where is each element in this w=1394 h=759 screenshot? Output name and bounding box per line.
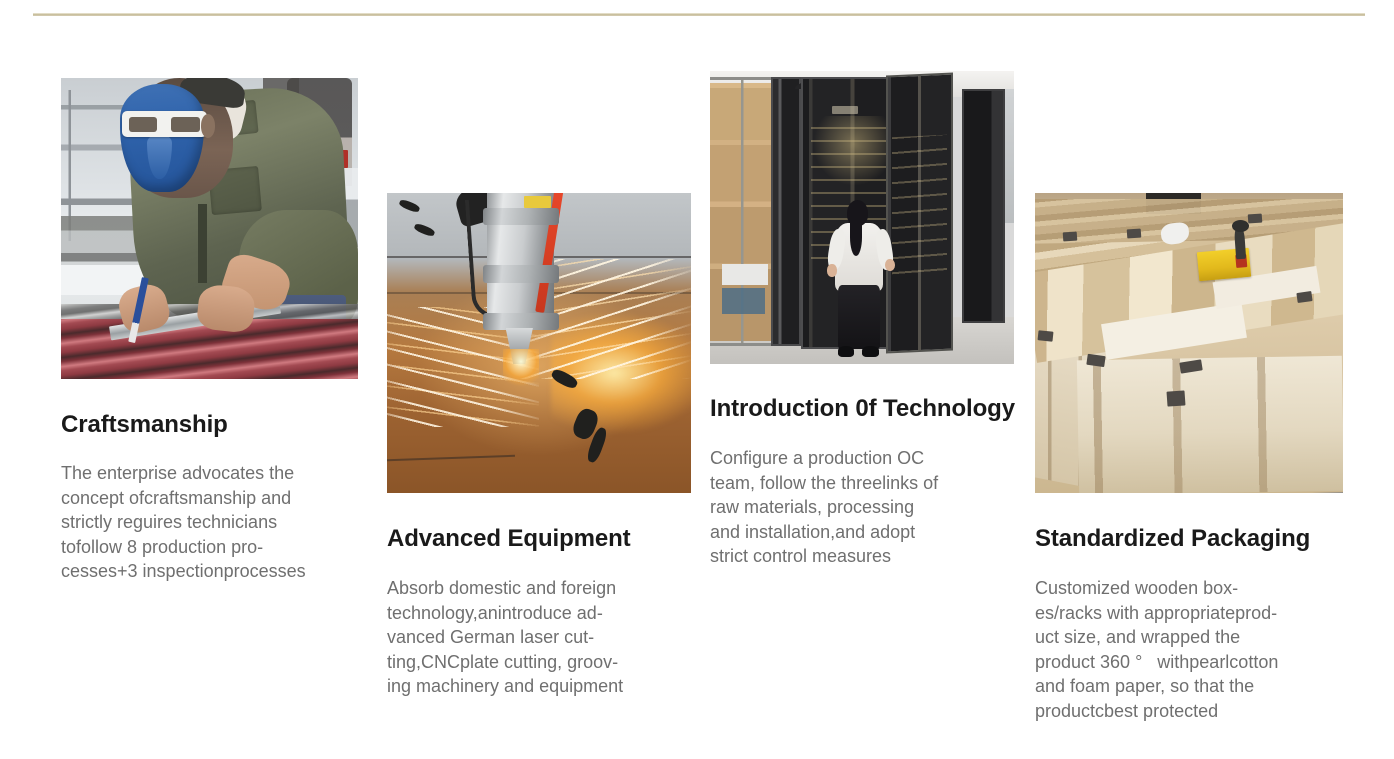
security-door-side: [886, 72, 953, 353]
warning-label: [524, 196, 551, 208]
visitor-trousers: [838, 285, 881, 349]
panel-label-blue: [722, 288, 765, 314]
visitor-right-shoe: [862, 346, 879, 357]
brochure-page: Craftsmanship The enterprise advocates t…: [0, 0, 1394, 759]
crate-front-battens: [1077, 356, 1343, 493]
head-collar-ring: [483, 208, 559, 225]
feature-body-packaging: Customized wooden box- es/racks with app…: [1035, 576, 1365, 723]
body-line: technology,anintroduce ad-: [387, 601, 692, 626]
body-line: The enterprise advocates the: [61, 461, 361, 486]
jacket-buttons: [198, 204, 207, 282]
body-line: cesses+3 inspectionprocesses: [61, 559, 361, 584]
equipment-photo: [387, 193, 691, 493]
body-line: Configure a production OC: [710, 446, 1022, 471]
head-collar-ring: [483, 313, 559, 330]
visitor-ponytail: [850, 218, 862, 256]
feature-card-craftsmanship: Craftsmanship The enterprise advocates t…: [61, 78, 361, 584]
body-line: and foam paper, so that the: [1035, 674, 1365, 699]
body-line: team, follow the threelinks of: [710, 471, 1022, 496]
body-line: uct size, and wrapped the: [1035, 625, 1365, 650]
body-line: tofollow 8 production pro-: [61, 535, 361, 560]
laser-tip-flare: [503, 349, 539, 391]
craftsmanship-photo: [61, 78, 358, 379]
body-line: Absorb domestic and foreign: [387, 576, 692, 601]
door-logo-plate: [832, 106, 859, 114]
body-line: strict control measures: [710, 544, 1022, 569]
metal-bracket: [1038, 330, 1054, 342]
security-door-far: [962, 89, 1005, 323]
security-door-open-leaf: [771, 77, 801, 347]
body-line: productcbest protected: [1035, 699, 1365, 724]
feature-card-equipment: Advanced Equipment Absorb domestic and f…: [387, 193, 692, 699]
metal-bracket: [1087, 354, 1107, 367]
visitor-left-shoe: [838, 346, 855, 357]
feature-heading-craftsmanship: Craftsmanship: [61, 411, 361, 439]
packaging-photo: [1035, 193, 1343, 493]
metal-bracket: [1127, 229, 1141, 239]
feature-body-equipment: Absorb domestic and foreign technology,a…: [387, 576, 692, 699]
panel-label-white: [722, 264, 768, 285]
body-line: product 360 ° withpearlcotton: [1035, 650, 1365, 675]
body-line: and installation,and adopt: [710, 520, 1022, 545]
head-collar-ring: [483, 265, 559, 283]
body-line: Customized wooden box-: [1035, 576, 1365, 601]
top-divider-rule: [33, 13, 1365, 16]
body-line: vanced German laser cut-: [387, 625, 692, 650]
door-glass-reflections: [892, 135, 947, 275]
technology-photo: [710, 71, 1014, 364]
welding-mask-icon: [120, 84, 203, 192]
feature-body-craftsmanship: The enterprise advocates the concept ofc…: [61, 461, 361, 584]
metal-bracket: [1167, 390, 1186, 406]
feature-body-technology: Configure a production OC team, follow t…: [710, 446, 1022, 569]
feature-heading-packaging: Standardized Packaging: [1035, 525, 1365, 553]
body-line: ting,CNCplate cutting, groov-: [387, 650, 692, 675]
body-line: strictly reguires technicians: [61, 510, 361, 535]
body-line: es/racks with appropriateprod-: [1035, 601, 1365, 626]
tool-knob: [1232, 220, 1249, 232]
safety-goggles-icon: [122, 111, 207, 137]
feature-card-packaging: Standardized Packaging Customized wooden…: [1035, 193, 1365, 723]
body-line: ing machinery and equipment: [387, 674, 692, 699]
feature-heading-technology: Introduction 0f Technology: [710, 395, 1022, 423]
feature-heading-equipment: Advanced Equipment: [387, 525, 692, 553]
metal-bracket: [1062, 232, 1076, 242]
metal-bracket: [1247, 214, 1261, 224]
feature-card-technology: Introduction 0f Technology Configure a p…: [710, 71, 1022, 569]
body-line: concept ofcraftsmanship and: [61, 486, 361, 511]
body-line: raw materials, processing: [710, 495, 1022, 520]
